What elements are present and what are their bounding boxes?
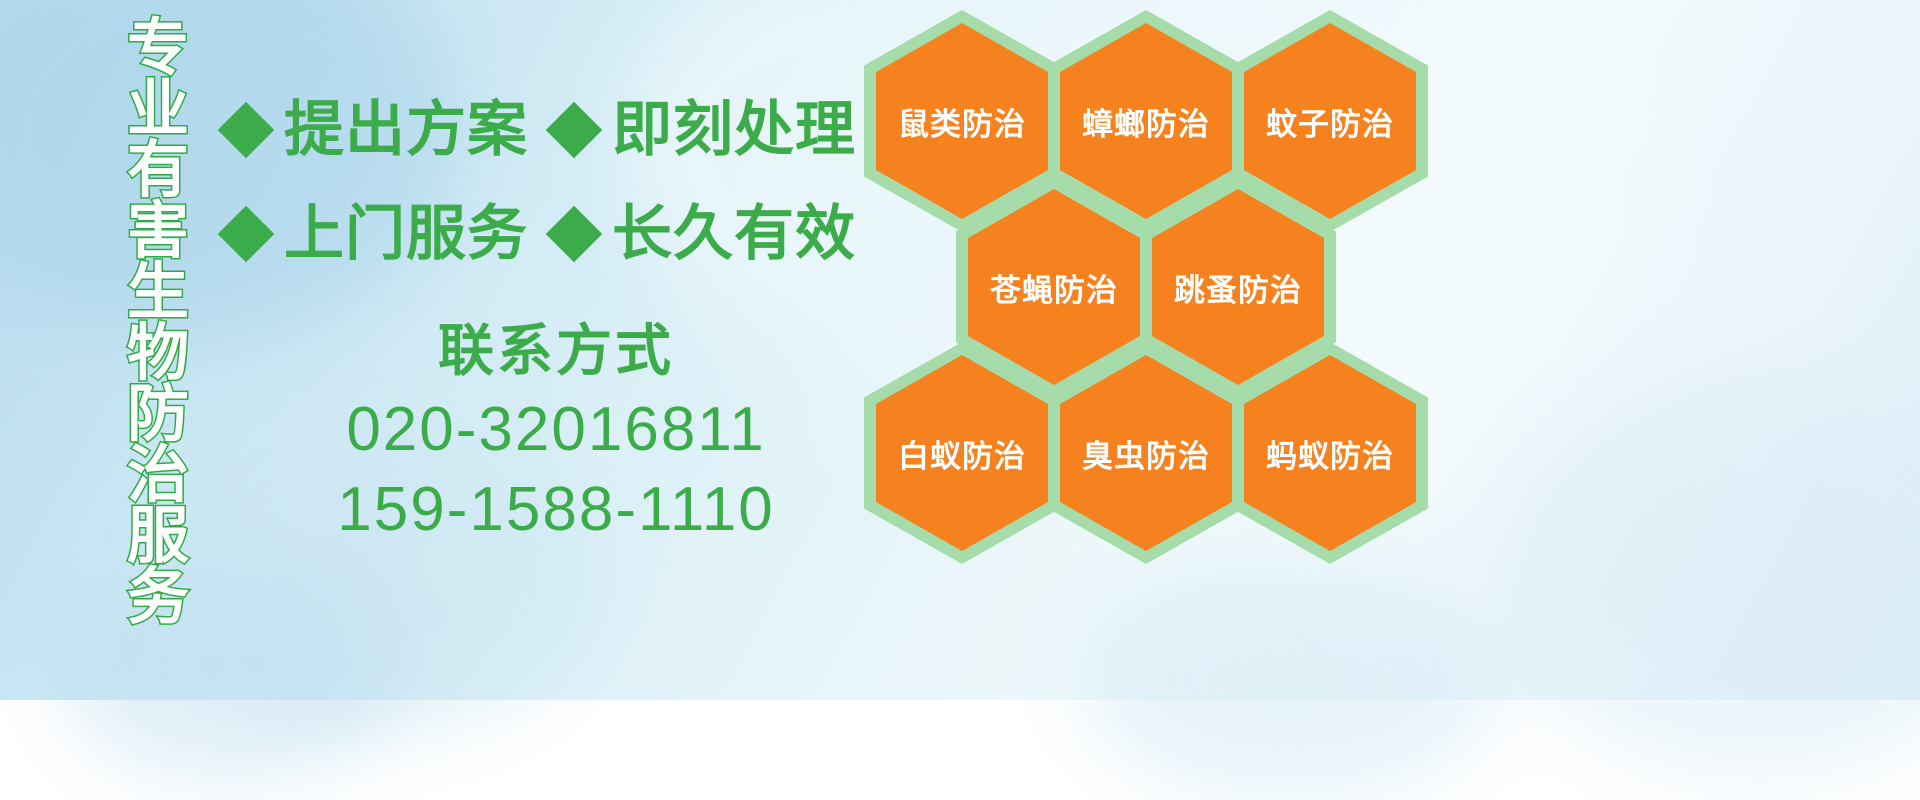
service-hexagon-label: 苍蝇防治	[990, 265, 1118, 310]
feature-bullet-item: 上门服务	[226, 204, 528, 264]
background-blob	[1080, 560, 1500, 800]
vertical-headline-char: 治	[127, 445, 189, 506]
diamond-bullet-icon	[218, 206, 275, 263]
contact-title: 联系方式	[236, 312, 876, 390]
background-blob	[60, 560, 400, 780]
diamond-bullet-icon	[218, 102, 275, 159]
vertical-headline-char: 防	[127, 384, 189, 445]
vertical-headline-char: 业	[127, 79, 189, 140]
vertical-headline: 专 业 有 害 生 物 防 治 服 务	[112, 18, 204, 628]
vertical-headline-char: 生	[127, 262, 189, 323]
vertical-headline-char: 有	[127, 140, 189, 201]
background-blob	[1500, 380, 1920, 780]
service-hexagon-label: 蚊子防治	[1266, 99, 1394, 144]
contact-phone-mobile[interactable]: 159-1588-1110	[236, 470, 876, 550]
feature-bullet-label: 即刻处理	[612, 100, 856, 160]
service-hexagon-bedbug[interactable]: 臭虫防治	[1048, 342, 1244, 564]
pest-control-banner: 专 业 有 害 生 物 防 治 服 务 提出方案 即刻处理 上门服务	[0, 0, 1920, 700]
feature-bullet-item: 长久有效	[554, 204, 856, 264]
contact-phone-landline[interactable]: 020-32016811	[236, 390, 876, 470]
service-hexagon-label: 蟑螂防治	[1082, 99, 1210, 144]
vertical-headline-char: 务	[127, 567, 189, 628]
vertical-headline-char: 服	[127, 506, 189, 567]
feature-bullet-row: 上门服务 长久有效	[226, 182, 866, 286]
service-hexagon-termite[interactable]: 白蚁防治	[864, 342, 1060, 564]
feature-bullet-row: 提出方案 即刻处理	[226, 78, 866, 182]
feature-bullet-label: 长久有效	[612, 204, 856, 264]
feature-bullet-label: 提出方案	[284, 100, 528, 160]
feature-bullet-item: 即刻处理	[554, 100, 856, 160]
feature-bullet-list: 提出方案 即刻处理 上门服务 长久有效	[226, 78, 866, 286]
service-honeycomb: 鼠类防治 蟑螂防治 蚊子防治 苍蝇防治 跳蚤防治 白蚁防治	[862, 0, 1462, 580]
feature-bullet-item: 提出方案	[226, 100, 528, 160]
feature-bullet-label: 上门服务	[284, 204, 528, 264]
service-hexagon-ant[interactable]: 蚂蚁防治	[1232, 342, 1428, 564]
contact-block: 联系方式 020-32016811 159-1588-1110	[236, 312, 876, 550]
service-hexagon-label: 跳蚤防治	[1174, 265, 1302, 310]
vertical-headline-char: 专	[127, 18, 189, 79]
service-hexagon-label: 蚂蚁防治	[1266, 431, 1394, 476]
diamond-bullet-icon	[546, 102, 603, 159]
service-hexagon-label: 鼠类防治	[898, 99, 1026, 144]
vertical-headline-char: 害	[127, 201, 189, 262]
service-hexagon-label: 臭虫防治	[1082, 431, 1210, 476]
service-hexagon-label: 白蚁防治	[898, 431, 1026, 476]
vertical-headline-char: 物	[127, 323, 189, 384]
diamond-bullet-icon	[546, 206, 603, 263]
